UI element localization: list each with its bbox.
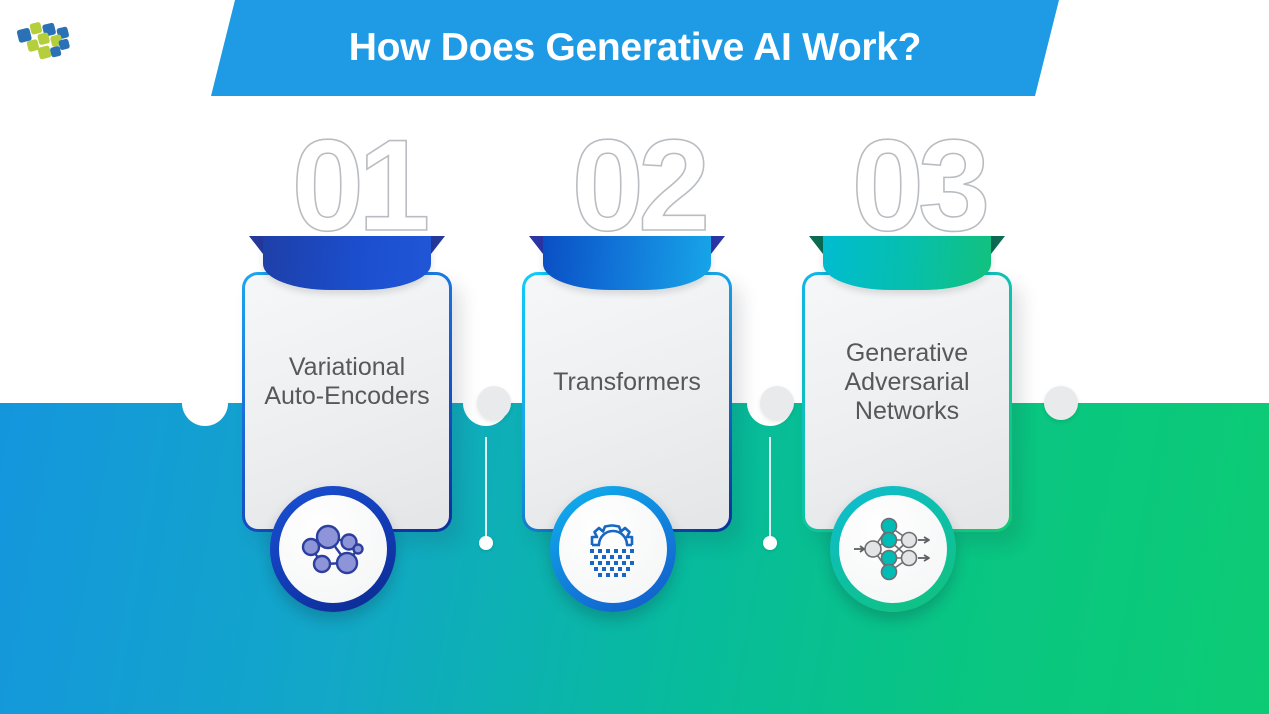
company-logo-icon: [14, 16, 76, 68]
ribbon-band-2: [543, 236, 711, 290]
step-ribbon-3: [823, 236, 991, 290]
page-title: How Does Generative AI Work?: [349, 26, 921, 70]
step-card-3[interactable]: 03 Generative Adversarial Networks: [788, 120, 1048, 640]
ribbon-fold-left-1: [249, 236, 263, 254]
step-card-2[interactable]: 02 Transformers: [508, 120, 768, 640]
ribbon-band-3: [823, 236, 991, 290]
step-number-3: 03: [852, 120, 985, 250]
step-card-1[interactable]: 01 Variational Auto-Encoders: [228, 120, 488, 640]
step-icon-circle-3[interactable]: [830, 486, 956, 612]
network-graph-icon: [297, 518, 369, 580]
connector-line-2: [769, 437, 771, 542]
step-title-2: Transformers: [553, 368, 701, 397]
step-icon-circle-1[interactable]: [270, 486, 396, 612]
step-icon-circle-2[interactable]: [550, 486, 676, 612]
ribbon-fold-left-3: [809, 236, 823, 254]
ribbon-fold-right-1: [431, 236, 445, 254]
step-ribbon-1: [263, 236, 431, 290]
ribbon-fold-right-2: [711, 236, 725, 254]
step-title-1: Variational Auto-Encoders: [259, 353, 435, 411]
step-number-2: 02: [572, 120, 705, 250]
step-ribbon-2: [543, 236, 711, 290]
background-bump-right: [1044, 386, 1078, 420]
ribbon-fold-right-3: [991, 236, 1005, 254]
step-number-1: 01: [292, 120, 425, 250]
ribbon-fold-left-2: [529, 236, 543, 254]
step-title-3: Generative Adversarial Networks: [819, 339, 995, 426]
title-banner: How Does Generative AI Work?: [211, 0, 1059, 96]
ribbon-band-1: [263, 236, 431, 290]
neural-network-icon: [852, 514, 934, 584]
gear-dots-icon: [578, 515, 648, 583]
infographic-canvas: How Does Generative AI Work? 01 Variatio…: [0, 0, 1269, 714]
